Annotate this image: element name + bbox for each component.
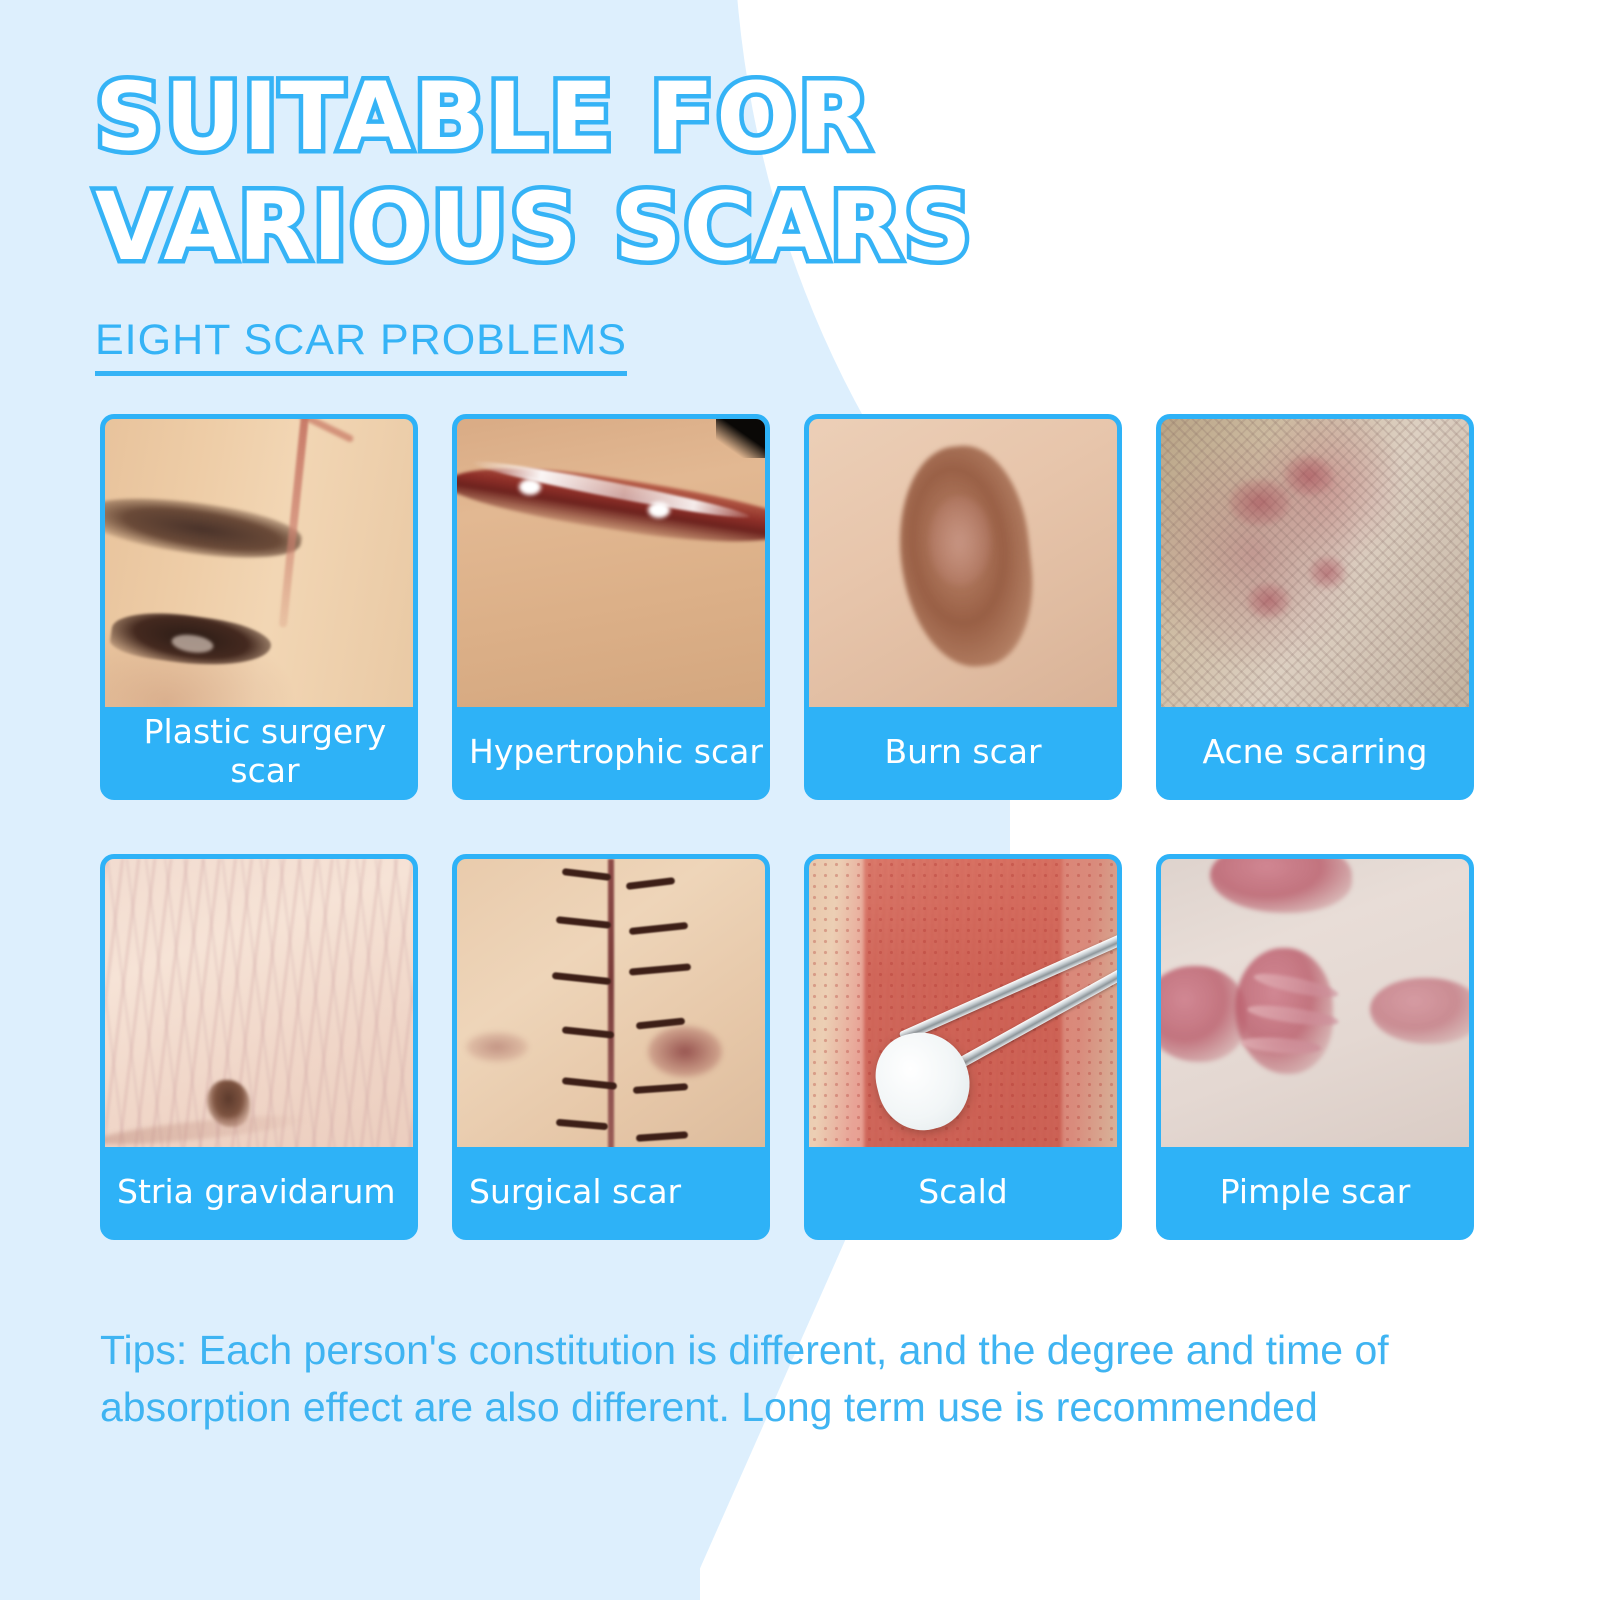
scar-card-acne[interactable]: Acne scarring	[1156, 414, 1474, 800]
scar-card-scald[interactable]: Scald	[804, 854, 1122, 1240]
scar-card-label: Acne scarring	[1161, 707, 1469, 795]
scar-card-label: Surgical scar	[457, 1147, 765, 1235]
bruise-left	[466, 1032, 528, 1062]
hypertrophic-scar-photo	[457, 419, 765, 717]
page-title-line-1: SUITABLE FOR	[95, 72, 1095, 164]
page-title-line-2: VARIOUS SCARS	[95, 182, 1095, 274]
burn-scar-photo	[809, 419, 1117, 717]
burn-lesion-center	[929, 496, 991, 585]
scar-card-label: Hypertrophic scar	[457, 707, 765, 795]
stria-gravidarum-photo	[105, 859, 413, 1157]
scald-photo	[809, 859, 1117, 1157]
surgical-scar-photo	[457, 859, 765, 1157]
stretch-mark-lines	[105, 859, 413, 1157]
tips-text: Tips: Each person's constitution is diff…	[100, 1322, 1480, 1435]
specular-dot-1	[519, 479, 541, 495]
page-subtitle: EIGHT SCAR PROBLEMS	[95, 316, 627, 376]
scar-card-hypertrophic[interactable]: Hypertrophic scar	[452, 414, 770, 800]
scar-card-pimple[interactable]: Pimple scar	[1156, 854, 1474, 1240]
acne-blotch-3	[1247, 583, 1290, 619]
acne-blotch-1	[1229, 479, 1291, 527]
dark-corner-shadow	[716, 419, 765, 458]
scar-card-label: Plastic surgery scar	[105, 707, 413, 795]
scar-card-label: Stria gravidarum	[105, 1147, 413, 1235]
acne-blotch-4	[1309, 556, 1346, 589]
scar-card-grid: Plastic surgery scar Hypertrophic scar B…	[100, 414, 1500, 1240]
scar-card-label: Scald	[809, 1147, 1117, 1235]
scar-card-plastic-surgery[interactable]: Plastic surgery scar	[100, 414, 418, 800]
scar-card-surgical[interactable]: Surgical scar	[452, 854, 770, 1240]
incision-line	[608, 859, 614, 1157]
scar-card-label: Burn scar	[809, 707, 1117, 795]
pimple-scar-photo	[1161, 859, 1469, 1157]
bruise-right	[648, 1026, 722, 1077]
scar-card-label: Pimple scar	[1161, 1147, 1469, 1235]
acne-scarring-photo	[1161, 419, 1469, 717]
scar-card-burn[interactable]: Burn scar	[804, 414, 1122, 800]
scar-card-stria-gravidarum[interactable]: Stria gravidarum	[100, 854, 418, 1240]
header: SUITABLE FOR VARIOUS SCARS EIGHT SCAR PR…	[95, 72, 1095, 376]
eyebrow-skin-base	[105, 419, 413, 717]
plastic-surgery-scar-photo	[105, 419, 413, 717]
infographic-page: SUITABLE FOR VARIOUS SCARS EIGHT SCAR PR…	[0, 0, 1600, 1600]
